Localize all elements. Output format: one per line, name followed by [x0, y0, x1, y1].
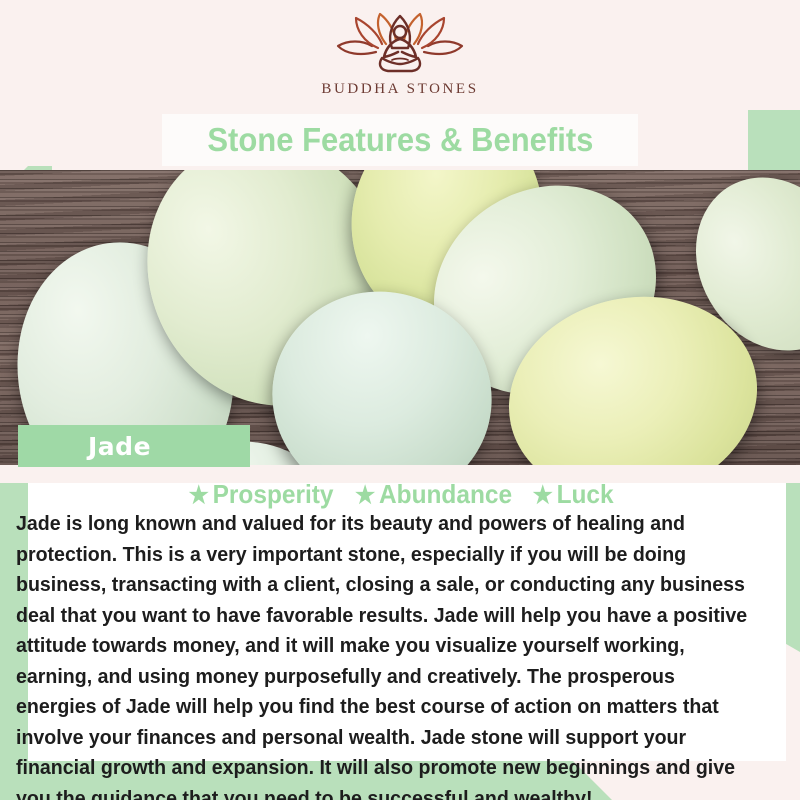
lotus-meditation-icon: [334, 12, 466, 76]
stone-name-badge: Jade: [18, 425, 250, 467]
star-icon: ★: [533, 482, 553, 509]
star-icon: ★: [188, 482, 208, 509]
benefit-label: Abundance: [379, 479, 512, 509]
star-icon: ★: [355, 482, 375, 509]
stone-info-poster: BUDDHA STONES Stone Features & Benefits …: [0, 0, 800, 800]
benefit-item: ★Luck: [533, 479, 614, 510]
content-panel: ★Prosperity ★Abundance ★Luck Jade is lon…: [0, 465, 800, 800]
brand-name: BUDDHA STONES: [321, 81, 478, 98]
benefits-row: ★Prosperity ★Abundance ★Luck: [0, 479, 800, 510]
page-title: Stone Features & Benefits: [207, 121, 593, 159]
stone-photo: [0, 170, 800, 465]
section-title-band: Stone Features & Benefits: [162, 114, 638, 166]
stone-name-label: Jade: [88, 432, 151, 461]
benefit-item: ★Abundance: [355, 479, 512, 510]
brand-header: BUDDHA STONES: [0, 0, 800, 110]
stone-description: Jade is long known and valued for its be…: [16, 509, 753, 800]
benefit-label: Luck: [557, 479, 614, 509]
benefit-label: Prosperity: [212, 479, 333, 509]
benefit-item: ★Prosperity: [188, 479, 333, 510]
